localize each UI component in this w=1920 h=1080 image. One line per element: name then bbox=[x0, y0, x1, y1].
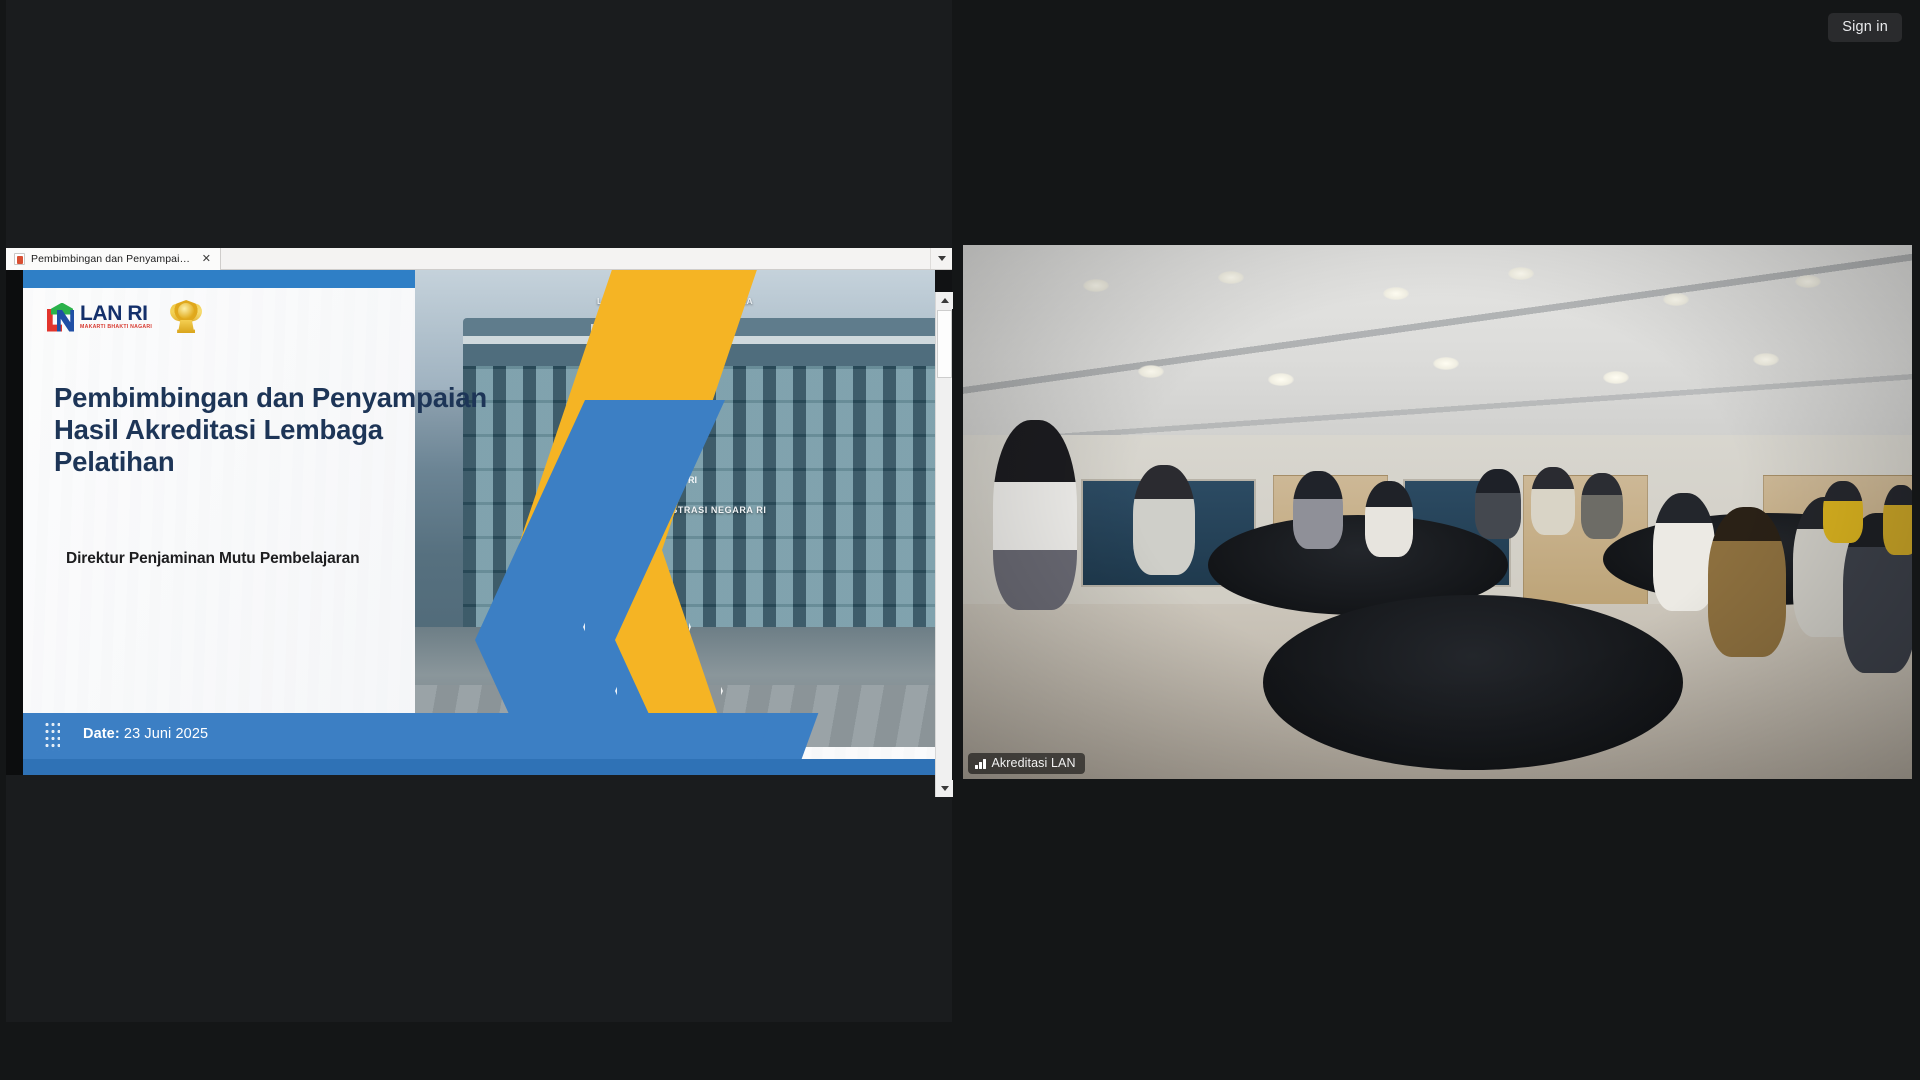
scroll-down-arrow-icon[interactable] bbox=[936, 780, 953, 797]
slide-footer: ⊕ www.lan.go.id ▣ humas_lan ✕ LAN_RI bbox=[23, 759, 935, 775]
lanri-name: LAN RI bbox=[80, 302, 148, 325]
slide-date-strip: Date: 23 Juni 2025 bbox=[23, 713, 787, 759]
slide-title: Pembimbingan dan Penyampaian Hasil Akred… bbox=[54, 382, 504, 479]
sign-in-button[interactable]: Sign in bbox=[1828, 13, 1902, 42]
signal-bars-icon bbox=[975, 758, 986, 769]
meeting-stage: Sign in Pembimbingan dan Penyampaian Has… bbox=[0, 0, 1920, 1080]
close-icon[interactable]: ✕ bbox=[200, 254, 213, 265]
screen-share-panel: Pembimbingan dan Penyampaian Hasi... ✕ bbox=[6, 0, 952, 1022]
document-viewer-window: Pembimbingan dan Penyampaian Hasi... ✕ bbox=[6, 248, 952, 775]
video-tile-akreditasi-lan[interactable]: Akreditasi LAN bbox=[963, 245, 1912, 779]
chevron-down-icon[interactable] bbox=[930, 248, 952, 269]
slide-logo-row: LAN RI MAKARTI BHAKTI NAGARI bbox=[47, 299, 203, 335]
photo-top-caption-main: LEMBAGA ADMINISTRASI NEGARA bbox=[597, 296, 753, 306]
document-scroll-area[interactable]: LEMBAGA ADMINISTRASI NEGARA REPUBLIK IND… bbox=[6, 270, 935, 775]
dot-pattern-left bbox=[44, 721, 60, 751]
photo-badge-text: LAN RI bbox=[667, 475, 697, 485]
slide-date-value: 23 Juni 2025 bbox=[124, 726, 208, 742]
gold-award-trophy-icon bbox=[169, 299, 203, 335]
video-frame bbox=[963, 245, 1912, 779]
document-tab[interactable]: Pembimbingan dan Penyampaian Hasi... ✕ bbox=[6, 248, 221, 270]
lanri-tagline: MAKARTI BHAKTI NAGARI bbox=[80, 325, 152, 330]
photo-top-caption-sub: REPUBLIK INDONESIA bbox=[597, 307, 753, 315]
document-vertical-scrollbar[interactable] bbox=[935, 292, 952, 797]
presentation-slide: LEMBAGA ADMINISTRASI NEGARA REPUBLIK IND… bbox=[23, 270, 935, 775]
photo-top-caption: LEMBAGA ADMINISTRASI NEGARA REPUBLIK IND… bbox=[597, 296, 753, 315]
viewer-tab-strip: Pembimbingan dan Penyampaian Hasi... ✕ bbox=[6, 248, 952, 270]
scrollbar-thumb[interactable] bbox=[937, 310, 952, 378]
participant-name: Akreditasi LAN bbox=[992, 756, 1076, 770]
word-document-icon bbox=[14, 253, 25, 265]
scroll-down-glyph bbox=[941, 786, 949, 791]
tab-strip-spacer bbox=[221, 248, 930, 269]
chevron-down-glyph bbox=[938, 256, 946, 261]
document-viewer-body: LEMBAGA ADMINISTRASI NEGARA REPUBLIK IND… bbox=[6, 270, 952, 775]
lanri-logo: LAN RI MAKARTI BHAKTI NAGARI bbox=[47, 303, 152, 332]
award-base bbox=[177, 320, 195, 333]
hexagon-icon bbox=[653, 474, 664, 485]
slide-date-label: Date: bbox=[83, 726, 120, 742]
scroll-up-arrow-icon[interactable] bbox=[936, 292, 953, 309]
photo-flagpole bbox=[591, 324, 594, 624]
photo-building-facade bbox=[463, 318, 935, 628]
slide-date: Date: 23 Juni 2025 bbox=[83, 726, 208, 742]
photo-building-sign: LEMBAGA ADMINISTRASI NEGARA RI bbox=[584, 505, 767, 515]
video-participant-label: Akreditasi LAN bbox=[968, 753, 1085, 774]
scroll-up-glyph bbox=[941, 298, 949, 303]
slide-subtitle: Direktur Penjaminan Mutu Pembelajaran bbox=[66, 550, 359, 568]
document-tab-title: Pembimbingan dan Penyampaian Hasi... bbox=[31, 253, 194, 265]
award-disc bbox=[178, 303, 194, 319]
video-vignette bbox=[963, 245, 1912, 779]
photo-building-windows bbox=[463, 366, 935, 628]
photo-flag bbox=[594, 326, 624, 343]
photo-lanri-badge: LAN RI bbox=[653, 474, 697, 485]
lanri-mark-icon bbox=[47, 303, 76, 332]
lanri-logo-text: LAN RI MAKARTI BHAKTI NAGARI bbox=[80, 303, 152, 330]
